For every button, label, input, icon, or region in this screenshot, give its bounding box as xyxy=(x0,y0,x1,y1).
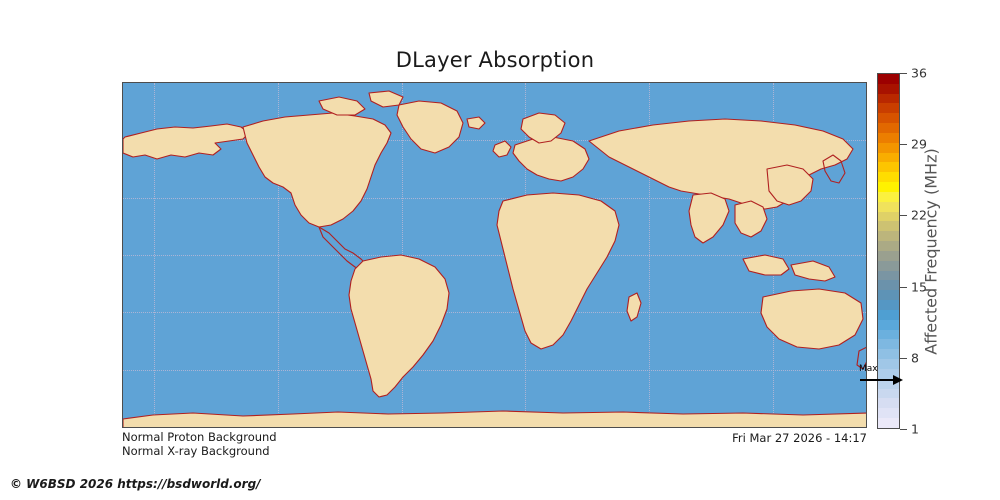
colorbar-band xyxy=(878,349,899,359)
xray-background-note: Normal X-ray Background xyxy=(122,444,270,458)
colorbar-band xyxy=(878,271,899,281)
colorbar-band xyxy=(878,330,899,340)
world-map xyxy=(122,82,867,428)
colorbar-band xyxy=(878,84,899,94)
colorbar-tick xyxy=(900,144,907,145)
colorbar-axis-label-text: Affected Frequency (MHz) xyxy=(922,148,941,354)
colorbar-band xyxy=(878,143,899,153)
colorbar-band xyxy=(878,251,899,261)
colorbar-band xyxy=(878,300,899,310)
colorbar-band xyxy=(878,202,899,212)
landmasses xyxy=(123,83,866,427)
colorbar-band xyxy=(878,113,899,123)
colorbar-band xyxy=(878,221,899,231)
colorbar-band xyxy=(878,418,899,428)
colorbar-band xyxy=(878,408,899,418)
colorbar-band xyxy=(878,74,899,84)
colorbar-band xyxy=(878,162,899,172)
colorbar-tick xyxy=(900,287,907,288)
colorbar-tick xyxy=(900,358,907,359)
colorbar-band xyxy=(878,123,899,133)
colorbar-band xyxy=(878,133,899,143)
colorbar-band xyxy=(878,231,899,241)
colorbar-band xyxy=(878,241,899,251)
colorbar: 1815222936 Max xyxy=(877,73,900,429)
max-marker: Max xyxy=(859,366,903,388)
page-title: DLayer Absorption xyxy=(0,48,990,72)
colorbar-band xyxy=(878,310,899,320)
colorbar-band xyxy=(878,389,899,399)
colorbar-band xyxy=(878,212,899,222)
colorbar-tick xyxy=(900,429,907,430)
colorbar-band xyxy=(878,103,899,113)
colorbar-band xyxy=(878,280,899,290)
max-arrow-icon xyxy=(859,374,903,386)
colorbar-tick xyxy=(900,73,907,74)
footer-credit: © W6BSD 2026 https://bsdworld.org/ xyxy=(10,477,261,491)
colorbar-band xyxy=(878,172,899,182)
colorbar-band xyxy=(878,182,899,192)
colorbar-band xyxy=(878,290,899,300)
colorbar-band xyxy=(878,339,899,349)
proton-background-note: Normal Proton Background xyxy=(122,430,277,444)
timestamp: Fri Mar 27 2026 - 14:17 xyxy=(732,431,867,445)
colorbar-band xyxy=(878,398,899,408)
colorbar-band xyxy=(878,261,899,271)
colorbar-band xyxy=(878,320,899,330)
colorbar-band xyxy=(878,153,899,163)
chart-canvas: DLayer Absorption xyxy=(0,0,1000,500)
colorbar-axis-label: Affected Frequency (MHz) xyxy=(916,73,946,429)
max-marker-label: Max xyxy=(859,364,878,374)
colorbar-band xyxy=(878,192,899,202)
colorbar-tick xyxy=(900,215,907,216)
colorbar-band xyxy=(878,94,899,104)
